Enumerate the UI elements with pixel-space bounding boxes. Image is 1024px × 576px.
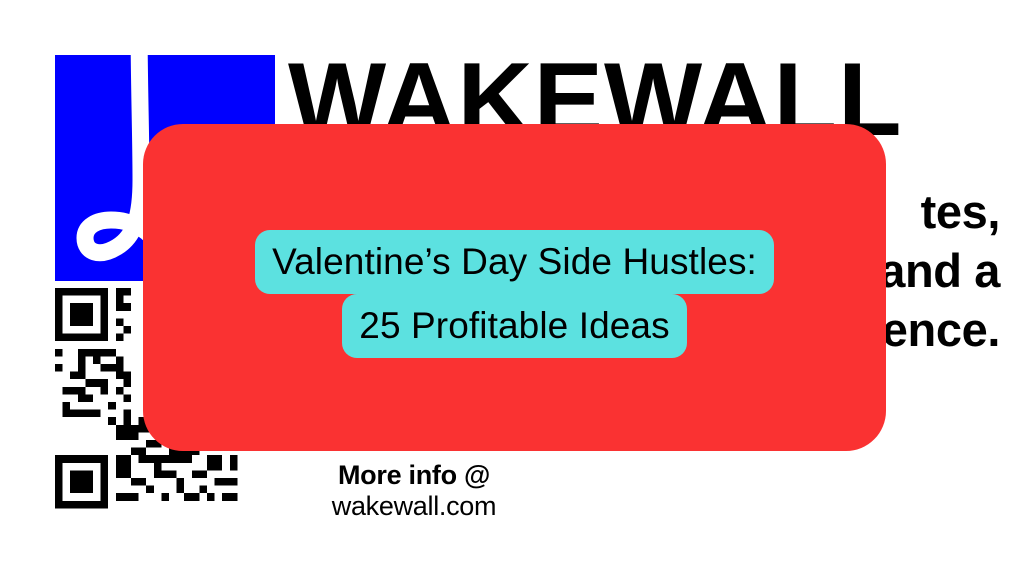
info-primary-label: More info @	[300, 460, 528, 490]
promo-card-canvas: WAKEWALL tes, business listings, and a v…	[0, 0, 1024, 576]
info-block: More info @ wakewall.com	[300, 460, 528, 523]
info-website-label: wakewall.com	[300, 490, 528, 522]
overlay-panel	[143, 124, 886, 451]
